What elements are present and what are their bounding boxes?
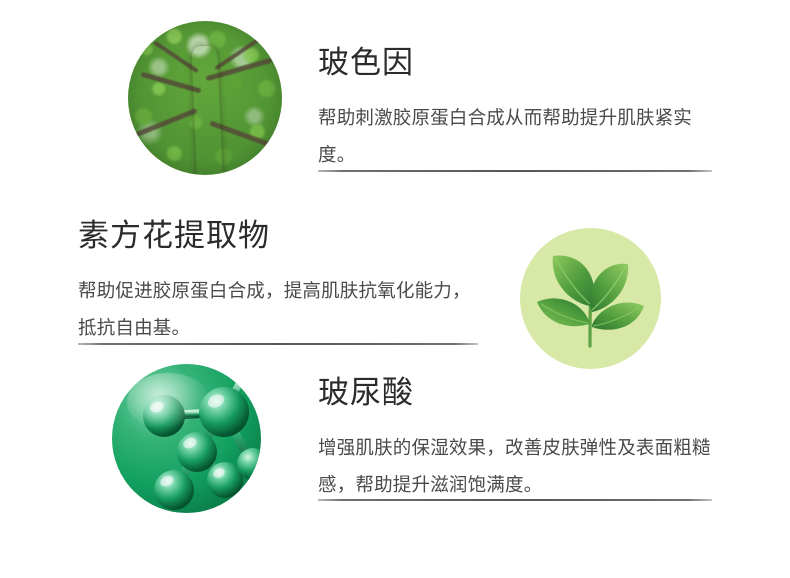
molecule-sphere-circle [112, 364, 261, 513]
ingredient-description-jasmine: 帮助促进胶原蛋白合成，提高肌肤抗氧化能力，抵抗自由基。 [78, 273, 486, 347]
section-divider-3 [318, 499, 712, 501]
ingredient-title-jasmine: 素方花提取物 [78, 219, 270, 253]
ingredient-description-boswelox: 帮助刺激胶原蛋白合成从而帮助提升肌肤紧实度。 [318, 100, 723, 174]
molecule-icon [112, 364, 261, 513]
ingredient-description-hyaluronic-acid: 增强肌肤的保湿效果，改善皮肤弹性及表面粗糙感，帮助提升滋润饱满度。 [318, 430, 728, 504]
ingredient-title-hyaluronic-acid: 玻尿酸 [318, 376, 414, 410]
section-divider-1 [318, 170, 712, 172]
section-divider-2 [78, 343, 478, 345]
photo-vignette [128, 21, 282, 175]
leaf-illustration-circle [520, 228, 661, 369]
ingredient-title-boswelox: 玻色因 [318, 46, 414, 80]
leaves-icon [520, 228, 661, 369]
ingredient-infographic-page: 玻色因 帮助刺激胶原蛋白合成从而帮助提升肌肤紧实度。 素方花提取物 帮助促进胶原… [0, 0, 790, 578]
tree-photo-circle [128, 21, 282, 175]
